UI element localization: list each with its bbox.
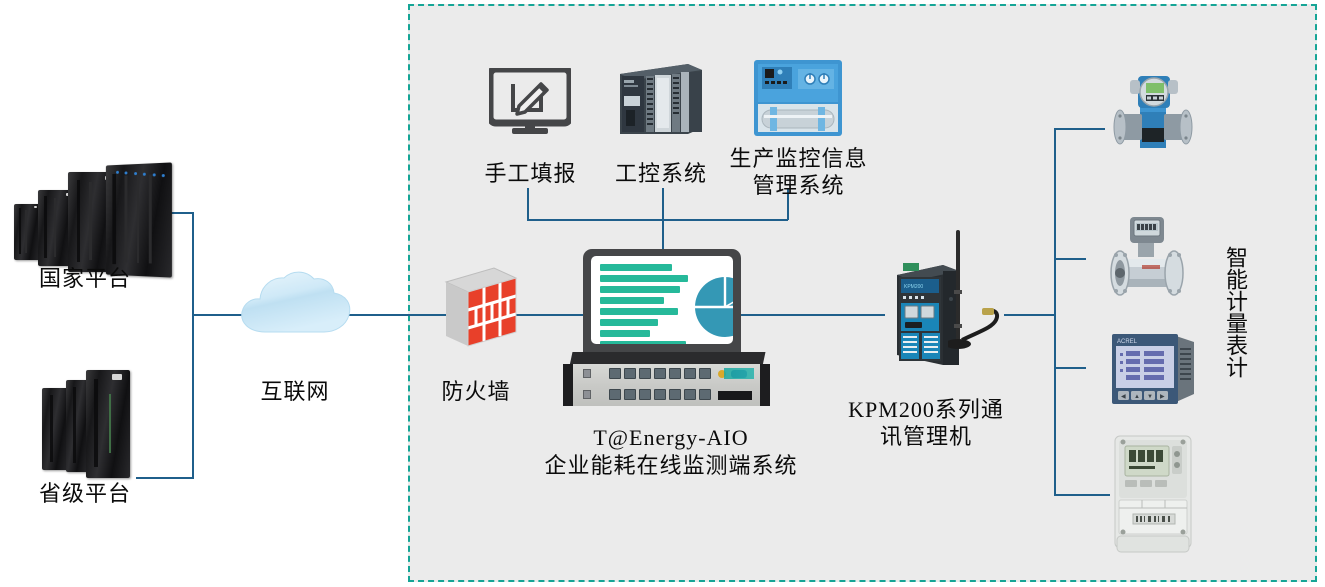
branch-meter-4 — [1054, 494, 1110, 496]
sources-bus — [527, 219, 788, 221]
production-control-unit-icon — [752, 58, 844, 138]
branch-meter-3 — [1054, 367, 1086, 369]
rack-appliance-icon — [557, 352, 776, 410]
drop-plc-system — [662, 188, 664, 220]
plc-system-label: 工控系统 — [601, 160, 721, 187]
svg-text:◀: ◀ — [1121, 394, 1126, 400]
dashboard-screen — [591, 256, 733, 344]
manual-report-label: 手工填报 — [473, 160, 588, 187]
pie-chart — [695, 268, 733, 344]
svg-text:▼: ▼ — [1147, 394, 1153, 400]
antenna-icon — [948, 228, 1004, 350]
svg-text:KPM200: KPM200 — [904, 284, 923, 290]
electromagnetic-flowmeter-icon — [1104, 66, 1200, 162]
kpm200-label-line1: KPM200系列通 — [838, 396, 1014, 423]
provincial-platform-label: 省级平台 — [10, 480, 160, 507]
server-rack-icon-national — [8, 164, 173, 270]
link-provincial-to-trunk — [136, 477, 194, 479]
drop-manual-report — [527, 188, 529, 220]
meters-group-label-text: 智能计量表计 — [1220, 246, 1250, 378]
link-sources-to-server — [662, 219, 664, 251]
svg-text:ACREL: ACREL — [1117, 339, 1138, 345]
power-meter-icon: ACREL ◀▲▼▶ — [1104, 330, 1204, 412]
national-platform-label: 国家平台 — [10, 265, 160, 292]
link-server-to-gateway — [741, 314, 885, 316]
tenergy-name-label: T@Energy-AIO — [540, 424, 802, 451]
trunk-vertical-left — [192, 212, 194, 478]
internet-label: 互联网 — [225, 378, 365, 405]
firewall-label: 防火墙 — [416, 378, 536, 405]
brick-wall-icon — [432, 262, 520, 358]
plc-cabinet-icon — [614, 62, 706, 138]
server-rack-icon-provincial — [42, 370, 138, 476]
production-system-label: 生产监控信息 管理系统 — [716, 145, 881, 199]
branch-meter-2 — [1054, 258, 1086, 260]
link-gateway-to-meterbus — [1004, 314, 1056, 316]
monitor-pencil-icon — [489, 68, 571, 136]
desktop-dashboard-icon — [583, 249, 741, 361]
meter-bus-vertical — [1054, 128, 1056, 496]
cloud-icon — [236, 266, 354, 338]
electricity-meter-icon — [1109, 432, 1197, 556]
turbine-flowmeter-icon — [1094, 213, 1198, 305]
branch-meter-1 — [1054, 128, 1105, 130]
svg-text:▶: ▶ — [1160, 394, 1165, 400]
meters-group-label: 智能计量表计 — [1220, 246, 1250, 386]
kpm200-label-line2: 讯管理机 — [838, 423, 1014, 450]
svg-text:▲: ▲ — [1134, 394, 1140, 400]
tenergy-subtitle-label: 企业能耗在线监测端系统 — [520, 452, 822, 479]
